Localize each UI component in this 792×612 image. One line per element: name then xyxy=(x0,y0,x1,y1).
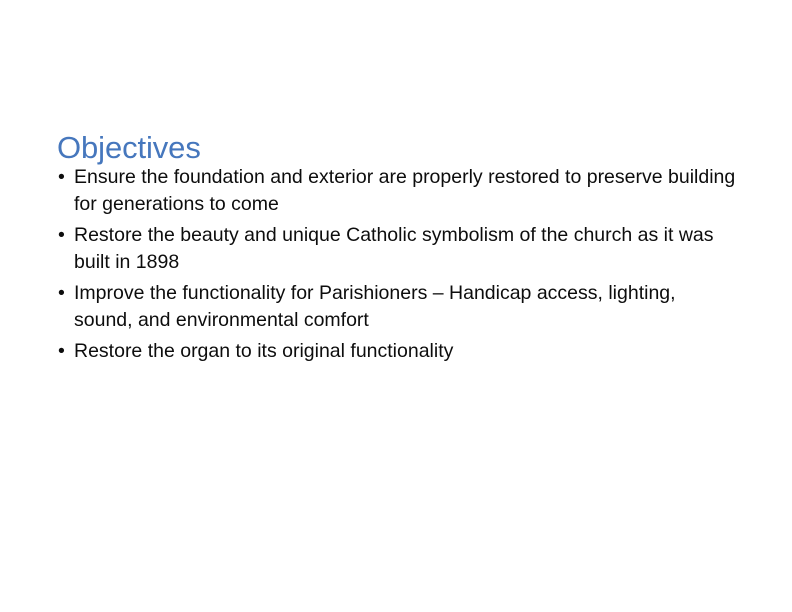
list-item-text: Improve the functionality for Parishione… xyxy=(74,280,739,333)
list-item: • Ensure the foundation and exterior are… xyxy=(57,164,739,217)
list-item-text: Restore the organ to its original functi… xyxy=(74,338,739,365)
list-item: • Restore the beauty and unique Catholic… xyxy=(57,222,739,275)
page-title: Objectives xyxy=(57,129,737,167)
bullet-point-icon: • xyxy=(58,222,70,249)
list-item: • Restore the organ to its original func… xyxy=(57,338,739,365)
bullet-point-icon: • xyxy=(58,338,70,365)
list-item-text: Restore the beauty and unique Catholic s… xyxy=(74,222,739,275)
bullet-point-icon: • xyxy=(58,164,70,191)
bullet-point-icon: • xyxy=(58,280,70,307)
list-item: • Improve the functionality for Parishio… xyxy=(57,280,739,333)
list-item-text: Ensure the foundation and exterior are p… xyxy=(74,164,739,217)
objectives-bullet-list: • Ensure the foundation and exterior are… xyxy=(57,164,739,365)
slide-canvas: Objectives • Ensure the foundation and e… xyxy=(0,0,792,612)
